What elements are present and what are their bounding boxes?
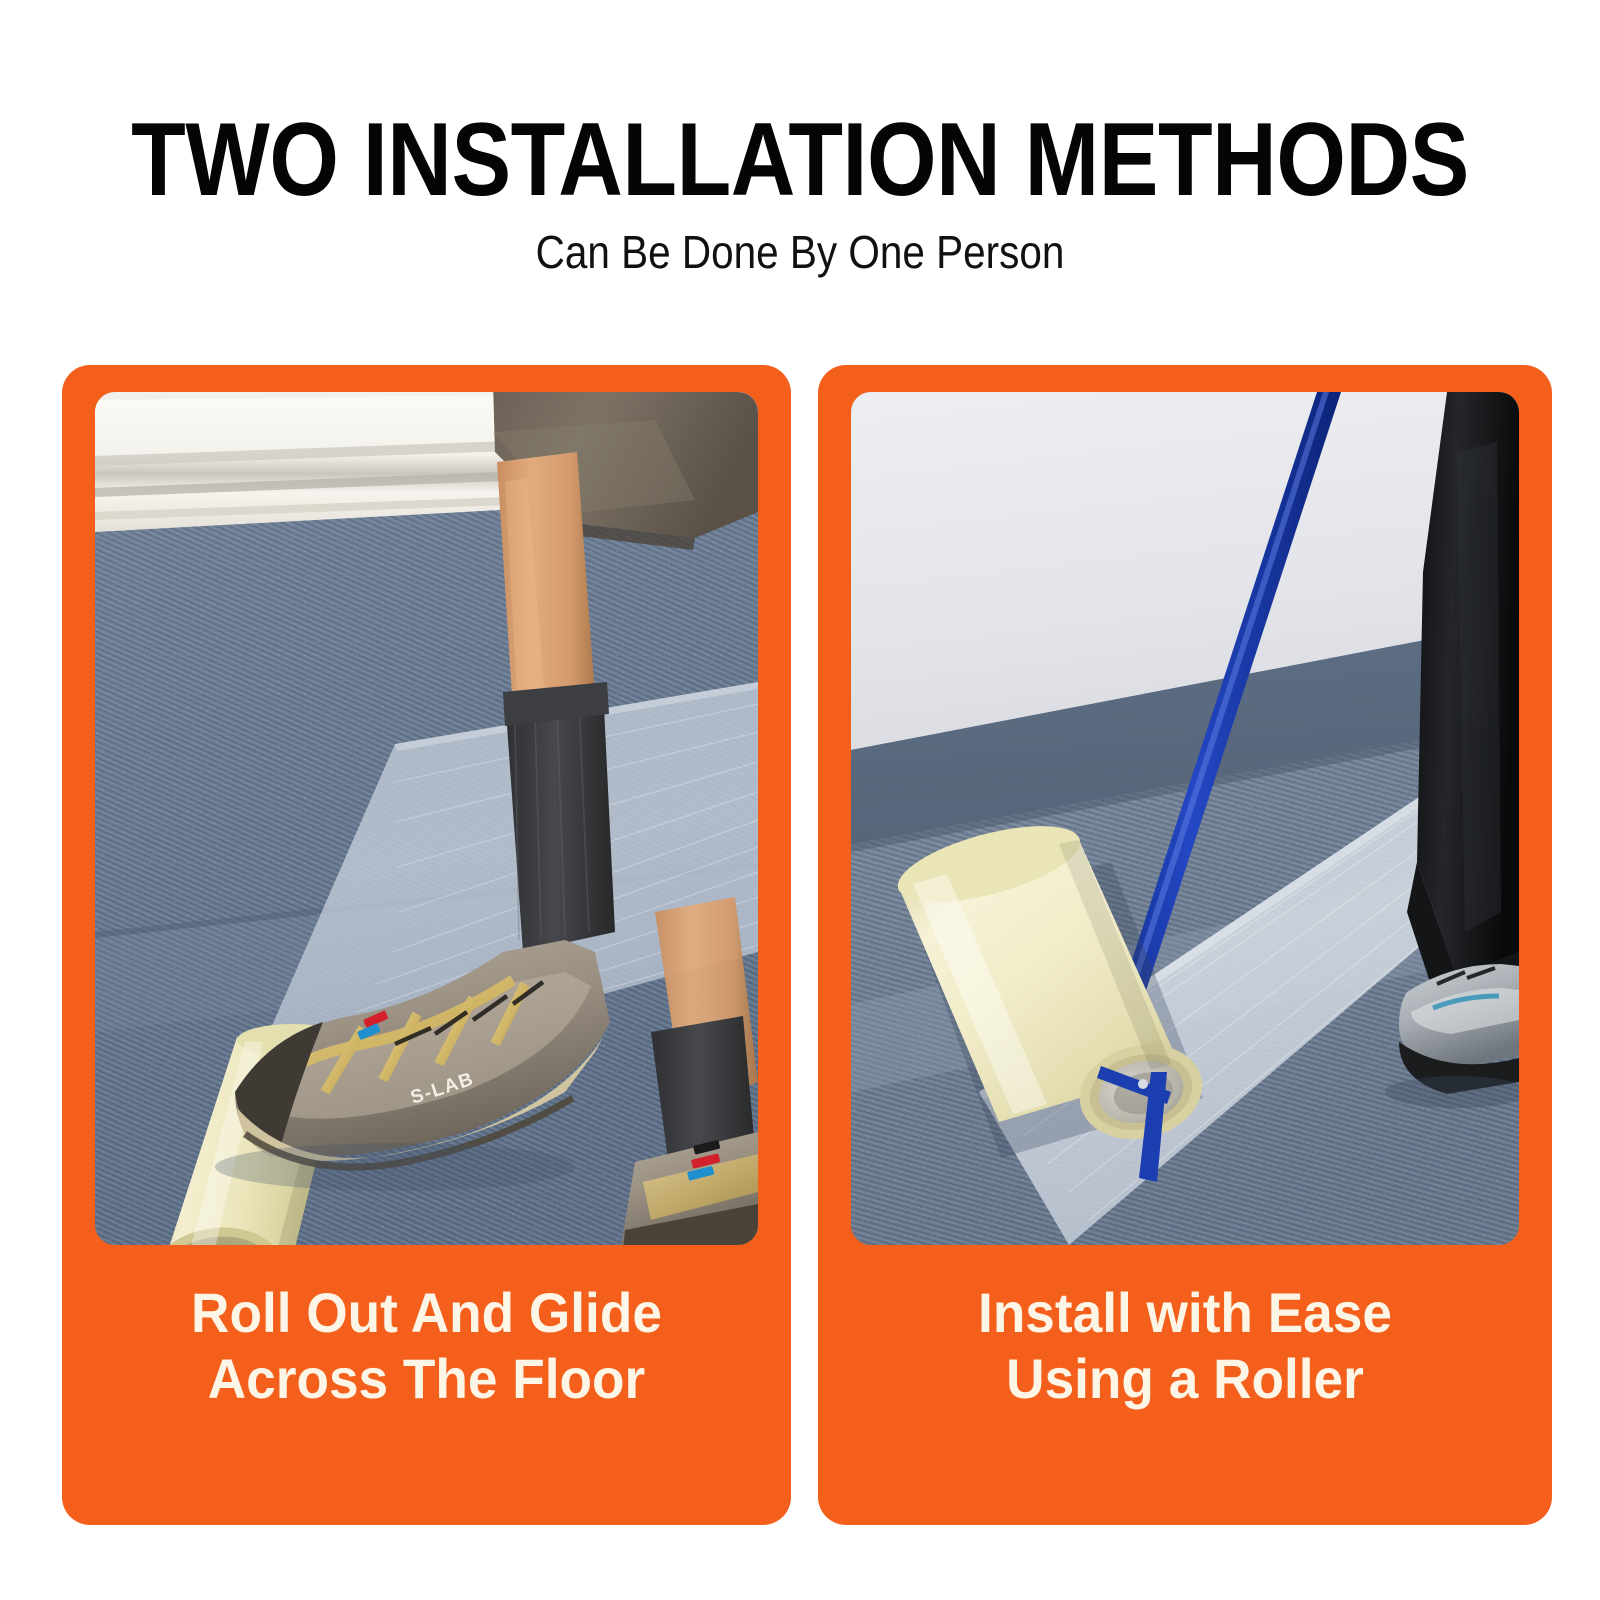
caption-line-1: Roll Out And Glide	[80, 1280, 773, 1346]
card-caption-install-with-roller: Install with Ease Using a Roller	[836, 1280, 1533, 1412]
blue-roller-applicator-photo	[851, 392, 1519, 1245]
page-subtitle: Can Be Done By One Person	[96, 228, 1504, 276]
card-caption-roll-out-and-glide: Roll Out And Glide Across The Floor	[80, 1280, 773, 1412]
method-card-roll-out-and-glide[interactable]: S-LAB Roll Out And Glide Across The Floo…	[62, 365, 791, 1525]
person-walking-rolling-film-photo: S-LAB	[95, 392, 758, 1245]
caption-line-2: Using a Roller	[836, 1346, 1533, 1412]
page-title: TWO INSTALLATION METHODS	[112, 108, 1488, 212]
header: TWO INSTALLATION METHODS Can Be Done By …	[0, 0, 1600, 330]
method-card-install-with-roller[interactable]: Install with Ease Using a Roller	[818, 365, 1552, 1525]
caption-line-2: Across The Floor	[80, 1346, 773, 1412]
caption-line-1: Install with Ease	[836, 1280, 1533, 1346]
